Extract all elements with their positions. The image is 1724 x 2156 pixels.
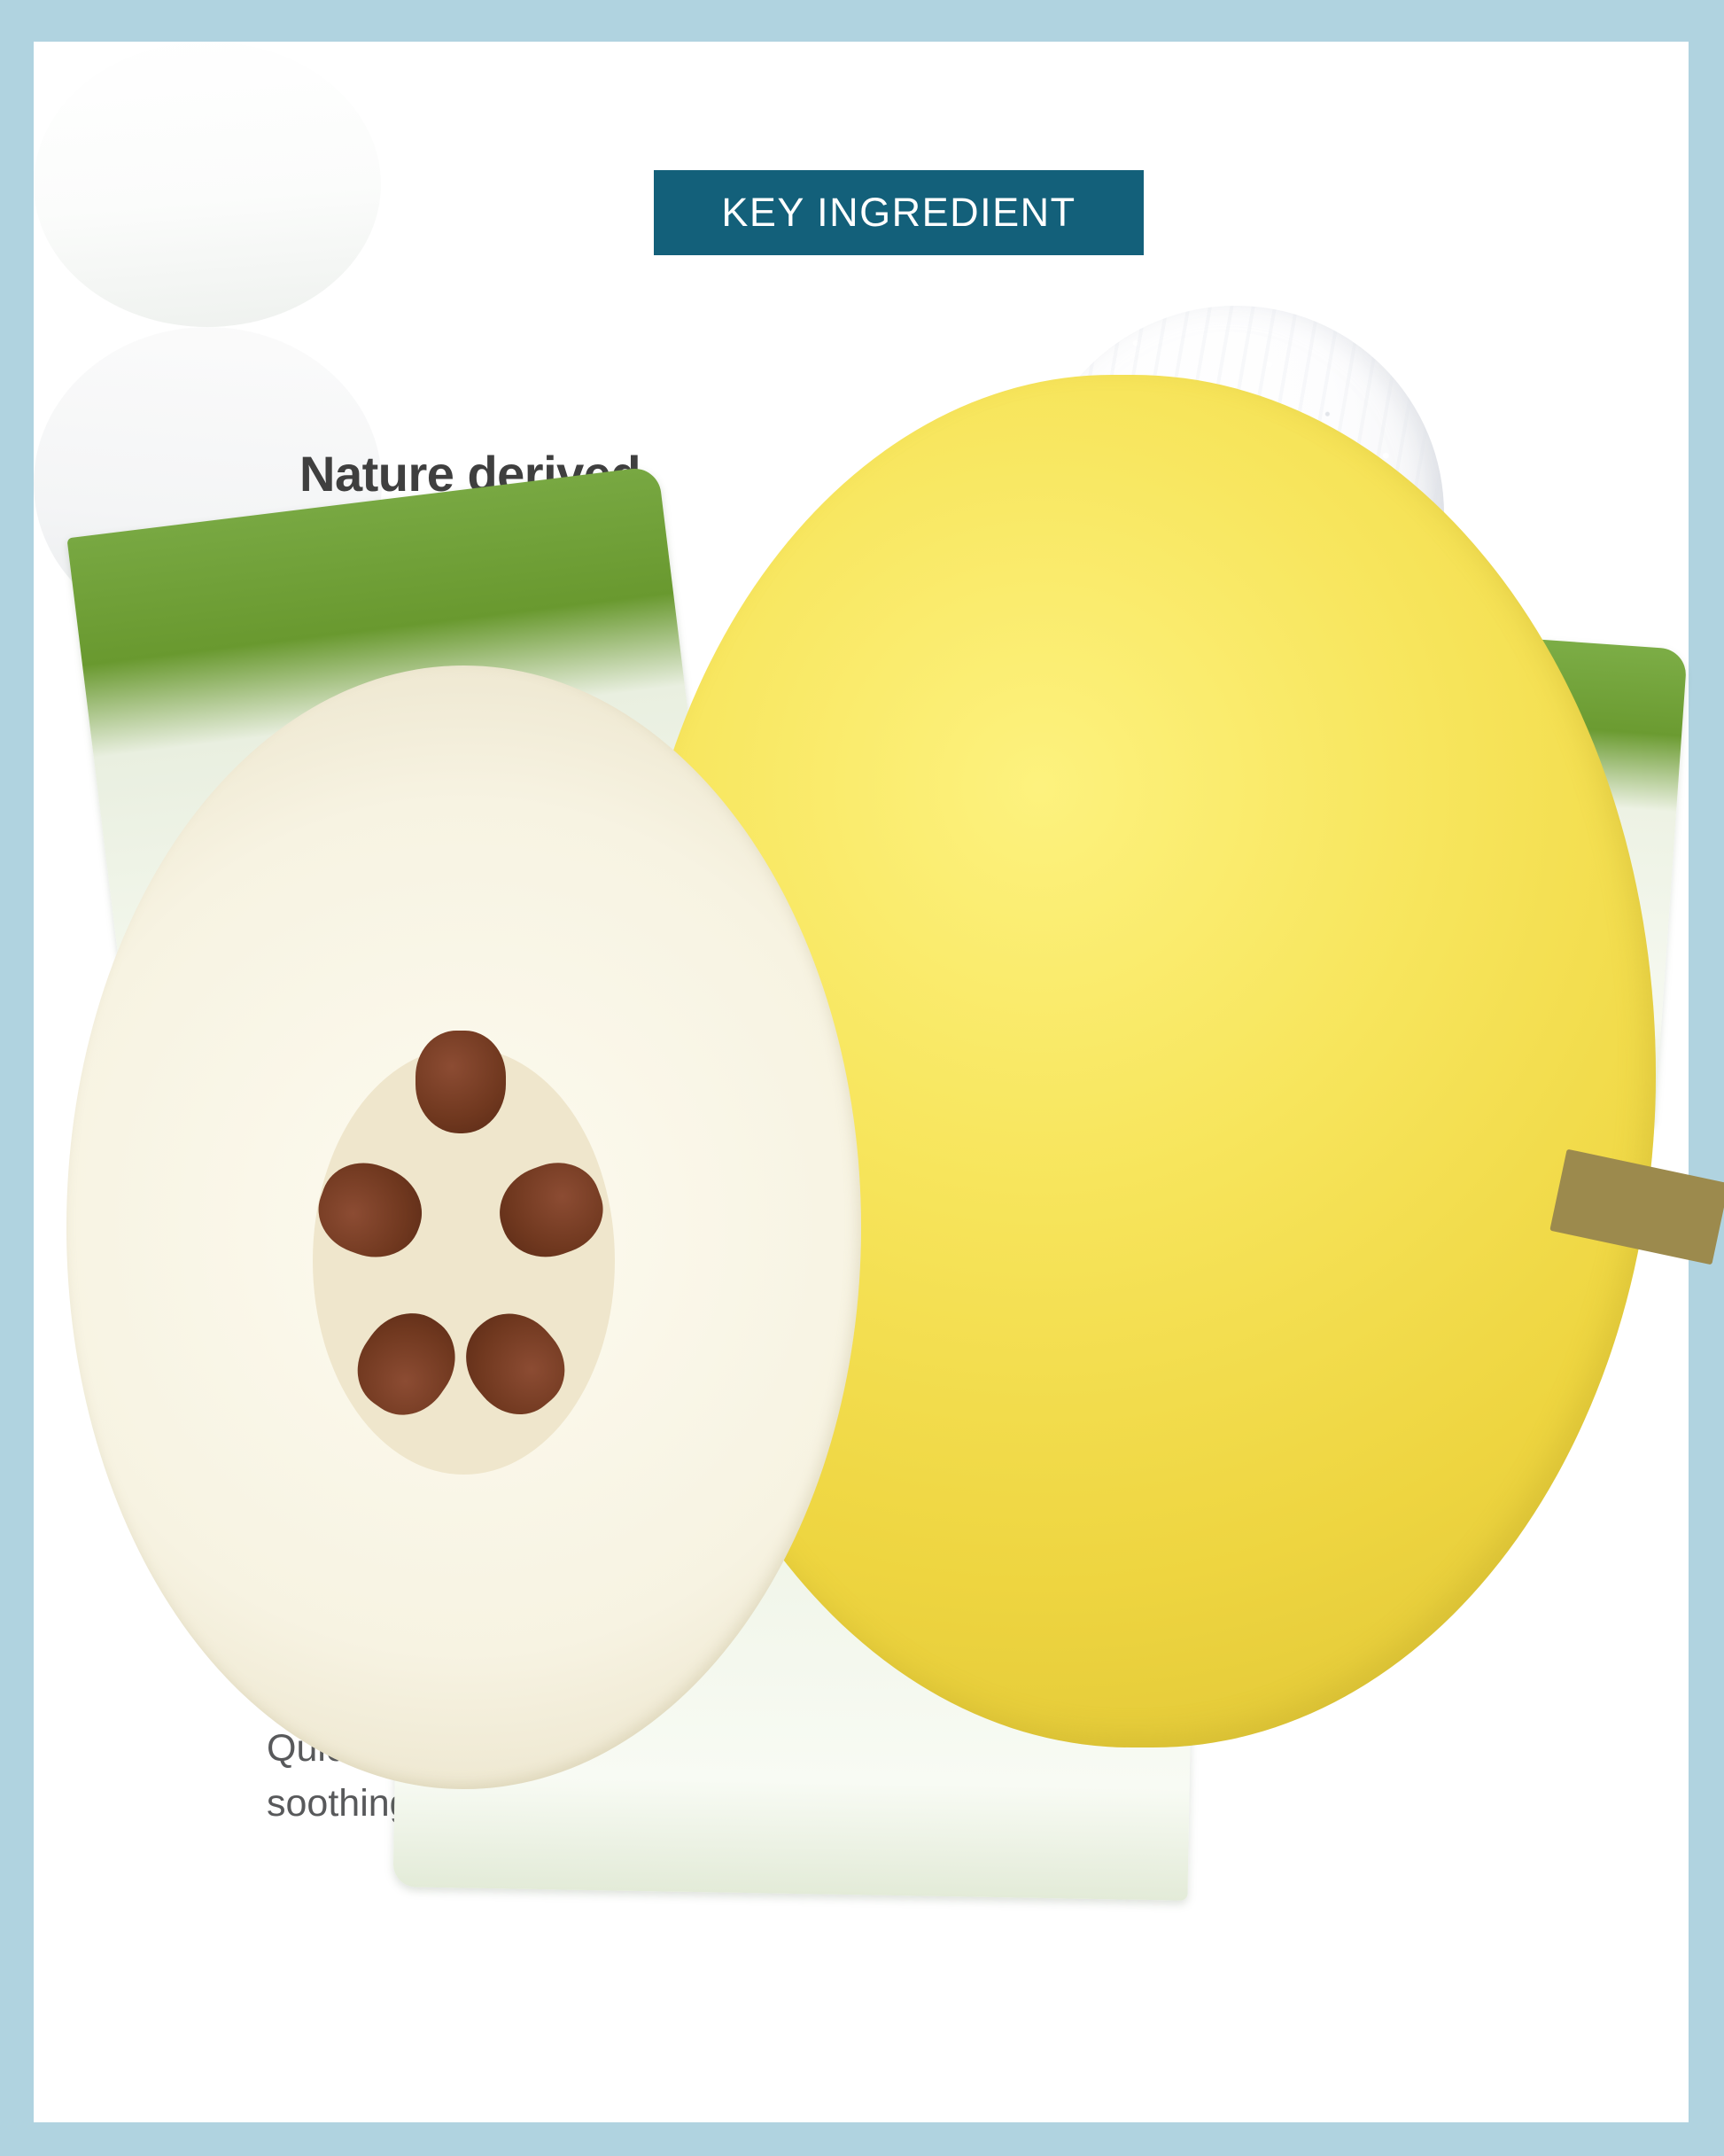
infographic-page: KEY INGREDIENT Nature derived cellulose … [0,0,1724,2156]
quince-seed [340,1296,473,1431]
quince-seed [447,1296,583,1432]
aloe-vera-image [34,42,381,327]
banner-label: KEY INGREDIENT [721,190,1076,236]
quince-seed [415,1031,506,1133]
quince-seed [488,1150,616,1271]
key-ingredient-banner: KEY INGREDIENT [654,170,1144,255]
content-panel: KEY INGREDIENT Nature derived cellulose … [34,42,1689,2122]
quince-seed [307,1150,434,1271]
quince-half-fruit [66,665,861,1789]
quince-core [313,1047,615,1475]
